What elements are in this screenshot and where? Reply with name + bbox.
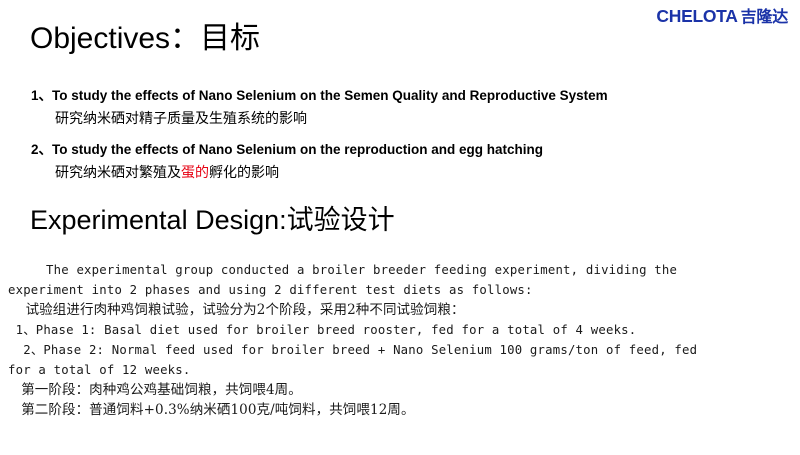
design-line-2: experiment into 2 phases and using 2 dif… [8, 280, 792, 300]
slide-canvas: CHELOTA吉隆达 Objectives：目标 1、To study the … [0, 0, 800, 455]
objective-2-chinese-prefix: 研究纳米硒对繁殖及 [55, 165, 181, 181]
design-line-7: 第一阶段：肉种鸡公鸡基础饲粮，共饲喂4周。 [8, 380, 792, 400]
objective-item-1: 1、To study the effects of Nano Selenium … [0, 86, 800, 129]
objective-2-english: 2、To study the effects of Nano Selenium … [31, 140, 800, 159]
design-line-6: for a total of 12 weeks. [8, 360, 792, 380]
logo-latin-text: CHELOTA [656, 6, 737, 26]
objective-2-chinese: 研究纳米硒对繁殖及蛋的孵化的影响 [55, 163, 800, 183]
objective-2-chinese-suffix: 孵化的影响 [209, 165, 279, 181]
objective-1-english: 1、To study the effects of Nano Selenium … [31, 86, 800, 105]
logo-cjk-text: 吉隆达 [741, 7, 788, 26]
design-line-3: 试验组进行肉种鸡饲粮试验，试验分为2个阶段，采用2种不同试验饲粮： [8, 300, 792, 320]
design-line-5: 2、Phase 2: Normal feed used for broiler … [8, 340, 792, 360]
design-line-4: 1、Phase 1: Basal diet used for broiler b… [8, 320, 792, 340]
objectives-heading: Objectives：目标 [30, 21, 260, 57]
chelota-logo: CHELOTA吉隆达 [656, 7, 788, 26]
design-line-8: 第二阶段：普通饲料+0.3%纳米硒100克/吨饲料，共饲喂12周。 [8, 400, 792, 420]
objective-item-2: 2、To study the effects of Nano Selenium … [0, 140, 800, 183]
experimental-design-body: The experimental group conducted a broil… [8, 260, 792, 420]
objective-2-chinese-highlight: 蛋的 [181, 165, 209, 181]
design-line-1: The experimental group conducted a broil… [8, 260, 792, 280]
objective-1-chinese: 研究纳米硒对精子质量及生殖系统的影响 [55, 109, 800, 129]
objectives-list: 1、To study the effects of Nano Selenium … [0, 86, 800, 194]
experimental-design-heading: Experimental Design:试验设计 [30, 204, 395, 237]
objective-1-chinese-prefix: 研究纳米硒对精子质量及生殖系统的影响 [55, 111, 307, 127]
